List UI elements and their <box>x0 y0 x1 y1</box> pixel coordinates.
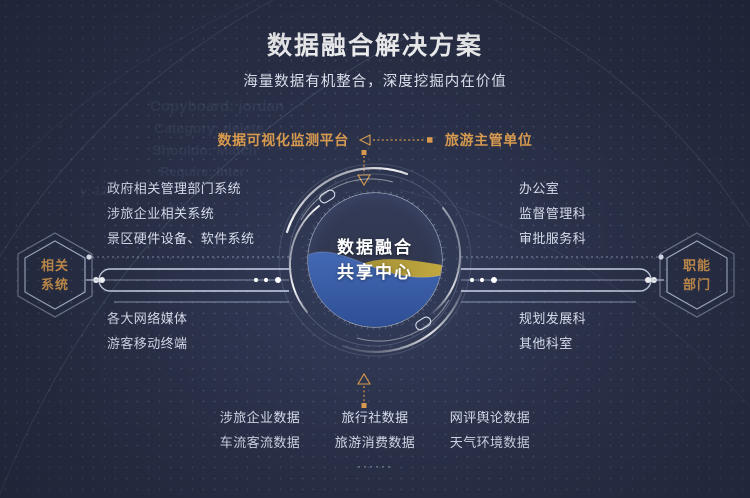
tourism-authority-label: 旅游主管单位 <box>445 130 533 150</box>
hexagon-related-systems[interactable]: 相关 系统 <box>14 230 96 320</box>
list-item: 景区硬件设备、软件系统 <box>107 226 254 251</box>
list-item: 天气环境数据 <box>438 430 543 455</box>
list-item: 监督管理科 <box>519 201 586 226</box>
watermark-line: Copyboard: jordan <box>150 95 450 118</box>
hexagon-outline-icon <box>656 230 738 320</box>
right-column-bottom: 规划发展科 其他科室 <box>519 306 586 356</box>
list-item: 游客移动终端 <box>107 331 187 356</box>
center-core-disc <box>308 193 442 327</box>
left-column-bottom: 各大网络媒体 游客移动终端 <box>107 306 187 356</box>
list-item: 旅游消费数据 <box>323 430 428 455</box>
page-subtitle: 海量数据有机整合，深度挖掘内在价值 <box>0 70 750 91</box>
list-item: 审批服务科 <box>519 226 586 251</box>
list-item: 办公室 <box>519 176 586 201</box>
right-data-pipe <box>456 252 666 308</box>
hexagon-functional-departments[interactable]: 职能 部门 <box>656 230 738 320</box>
list-item: 其他科室 <box>519 331 586 356</box>
data-fusion-center-graphic[interactable]: 数据融合 共享中心 <box>275 160 475 360</box>
left-column-top: 政府相关管理部门系统 涉旅企业相关系统 景区硬件设备、软件系统 <box>107 176 254 251</box>
center-wave-fill <box>308 193 442 327</box>
left-arrow-dotted-connector-icon <box>358 133 436 147</box>
list-item: 各大网络媒体 <box>107 306 187 331</box>
hexagon-outline-icon <box>14 230 96 320</box>
data-visualization-platform-label: 数据可视化监测平台 <box>217 130 348 150</box>
ellipsis-label: ······ <box>357 459 393 473</box>
list-item: 旅行社数据 <box>323 405 428 430</box>
page-title: 数据融合解决方案 <box>0 26 750 62</box>
left-data-pipe <box>84 252 294 308</box>
table-row: 涉旅企业数据 旅行社数据 网评舆论数据 <box>203 405 548 430</box>
list-item: 涉旅企业相关系统 <box>107 201 254 226</box>
infographic-canvas: Copyboard: jordan Category: delete Shoul… <box>0 0 750 498</box>
top-label-row: 数据可视化监测平台 旅游主管单位 <box>0 130 750 150</box>
list-item: 网评舆论数据 <box>438 405 543 430</box>
table-row: 车流客流数据 旅游消费数据 天气环境数据 <box>203 430 548 455</box>
list-item: 规划发展科 <box>519 306 586 331</box>
bottom-data-sources: 涉旅企业数据 旅行社数据 网评舆论数据 车流客流数据 旅游消费数据 天气环境数据… <box>0 405 750 473</box>
list-item: 政府相关管理部门系统 <box>107 176 254 201</box>
list-item: 涉旅企业数据 <box>208 405 313 430</box>
right-column-top: 办公室 监督管理科 审批服务科 <box>519 176 586 251</box>
list-item: 车流客流数据 <box>208 430 313 455</box>
